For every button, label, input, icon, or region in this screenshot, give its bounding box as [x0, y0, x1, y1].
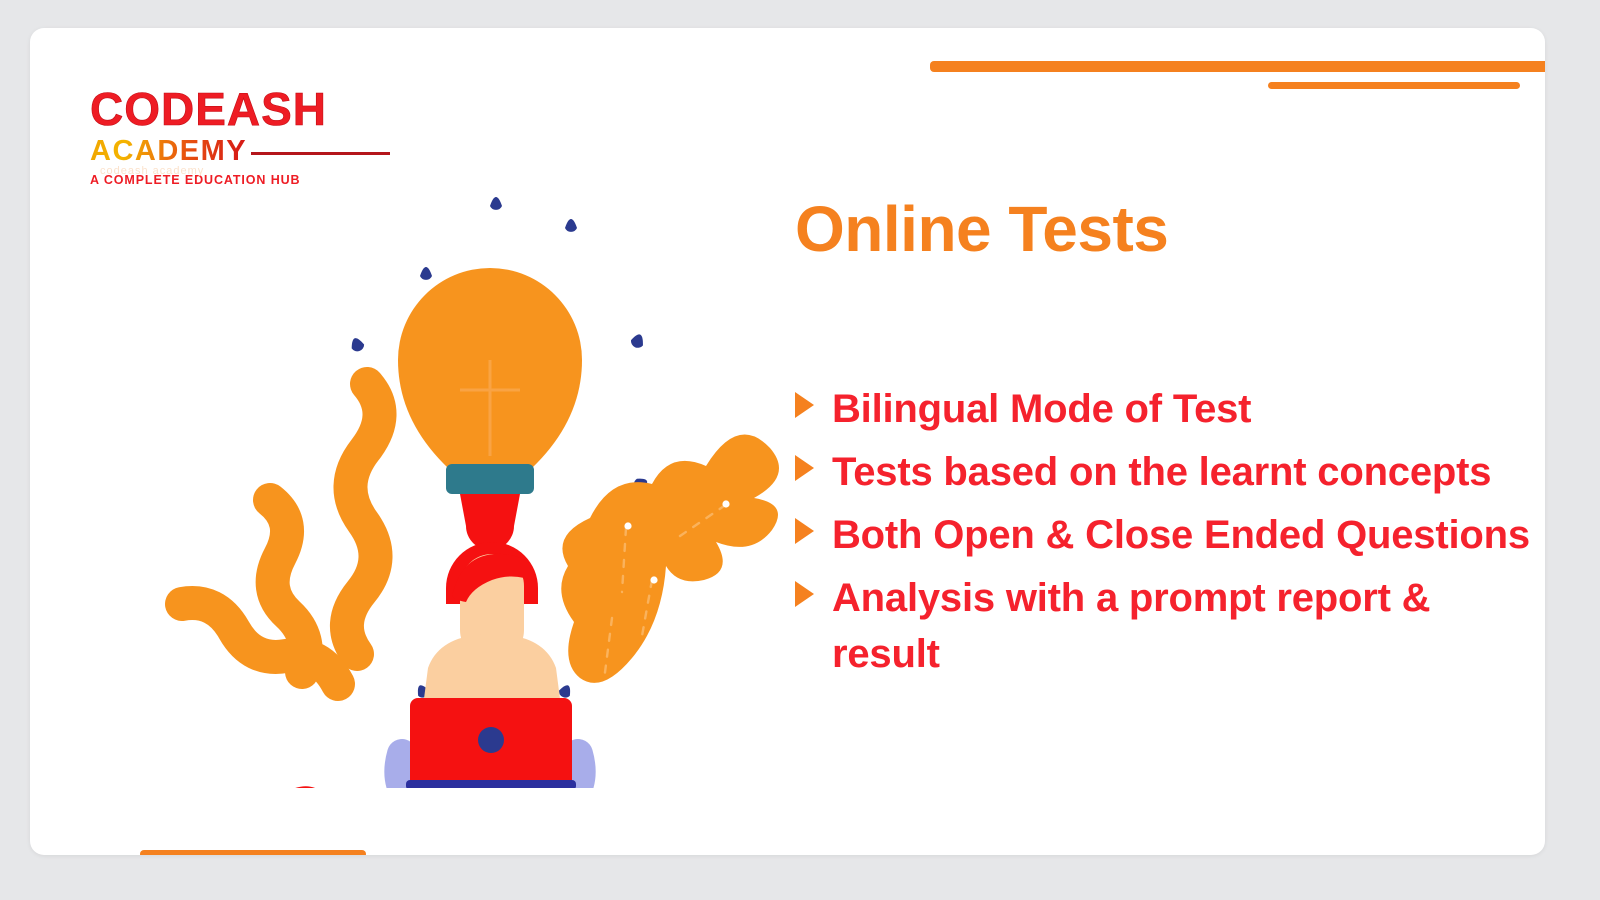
brand-name-secondary-row: ACADEMY — [90, 137, 390, 166]
brand-name-primary: CODEASH — [90, 86, 390, 132]
decor-bar-bottom-thin — [140, 850, 366, 855]
feature-label: Tests based on the learnt concepts — [832, 444, 1491, 501]
brand-name-secondary: ACADEMY — [90, 137, 247, 166]
feature-label: Both Open & Close Ended Questions — [832, 507, 1530, 564]
triangle-bullet-icon — [795, 581, 814, 607]
content-column: Online Tests Bilingual Mode of Test Test… — [795, 196, 1535, 689]
triangle-bullet-icon — [795, 392, 814, 418]
slide-card: CODEASH ACADEMY A COMPLETE EDUCATION HUB… — [30, 28, 1545, 855]
foliage-left — [182, 384, 380, 684]
triangle-bullet-icon — [795, 455, 814, 481]
hero-illustration — [160, 188, 780, 788]
page-title: Online Tests — [795, 196, 1535, 263]
lightbulb-icon — [398, 268, 582, 550]
brand-watermark: codeash academy — [100, 165, 204, 177]
list-item: Analysis with a prompt report & result — [795, 570, 1535, 684]
list-item: Bilingual Mode of Test — [795, 381, 1535, 438]
list-item: Both Open & Close Ended Questions — [795, 507, 1535, 564]
list-item: Tests based on the learnt concepts — [795, 444, 1535, 501]
foliage-right — [561, 435, 779, 683]
feature-label: Analysis with a prompt report & result — [832, 570, 1535, 684]
decor-bar-top-thick — [930, 61, 1545, 72]
feature-list: Bilingual Mode of Test Tests based on th… — [795, 381, 1535, 683]
brand-rule-divider — [251, 152, 390, 155]
person-with-laptop — [399, 542, 580, 788]
decor-bar-top-thin — [1268, 82, 1520, 89]
slide-root: CODEASH ACADEMY A COMPLETE EDUCATION HUB… — [0, 0, 1600, 900]
feature-label: Bilingual Mode of Test — [832, 381, 1251, 438]
triangle-bullet-icon — [795, 518, 814, 544]
